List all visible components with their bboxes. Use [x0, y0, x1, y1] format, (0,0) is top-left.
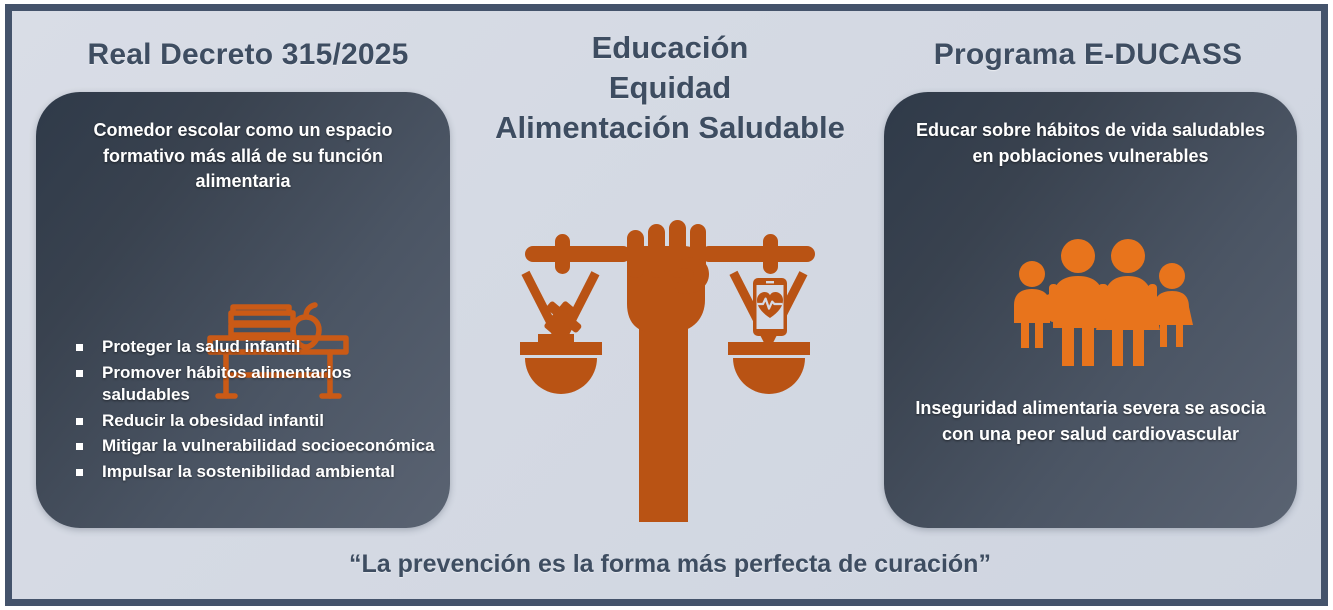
- right-card-note: Inseguridad alimentaria severa se asocia…: [906, 396, 1275, 447]
- bullet-square-icon: [76, 418, 83, 425]
- bullet-square-icon: [76, 370, 83, 377]
- list-item: Mitigar la vulnerabilidad socioeconómica: [70, 435, 436, 458]
- left-bullet-list: Proteger la salud infantil Promover hábi…: [70, 336, 436, 487]
- page-title-line-3: Alimentación Saludable: [455, 108, 885, 148]
- list-item: Proteger la salud infantil: [70, 336, 436, 359]
- bullet-text: Reducir la obesidad infantil: [102, 411, 324, 430]
- bullet-square-icon: [76, 469, 83, 476]
- list-item: Promover hábitos alimentarios saludables: [70, 362, 436, 407]
- left-card-headline: Comedor escolar como un espacio formativ…: [62, 118, 424, 195]
- slide-canvas: Real Decreto 315/2025 Comedor escolar co…: [0, 0, 1333, 610]
- left-card: Comedor escolar como un espacio formativ…: [36, 92, 450, 528]
- balance-scale-fist-icon: [505, 218, 835, 530]
- bullet-text: Impulsar la sostenibilidad ambiental: [102, 462, 395, 481]
- bullet-text: Promover hábitos alimentarios saludables: [102, 363, 351, 405]
- right-card-headline: Educar sobre hábitos de vida saludables …: [910, 118, 1271, 169]
- page-title-line-1: Educación: [455, 28, 885, 68]
- bullet-text: Proteger la salud infantil: [102, 337, 300, 356]
- infographic-slide: Real Decreto 315/2025 Comedor escolar co…: [0, 0, 1333, 610]
- page-title: Educación Equidad Alimentación Saludable: [455, 28, 885, 148]
- bullet-square-icon: [76, 443, 83, 450]
- list-item: Impulsar la sostenibilidad ambiental: [70, 461, 436, 484]
- footer-quote: “La prevención es la forma más perfecta …: [120, 550, 1220, 579]
- family-group-icon: [1000, 236, 1196, 366]
- bullet-text: Mitigar la vulnerabilidad socioeconómica: [102, 436, 435, 455]
- left-column-heading: Real Decreto 315/2025: [28, 38, 468, 72]
- page-title-line-2: Equidad: [455, 68, 885, 108]
- right-column-heading: Programa E-DUCASS: [868, 38, 1308, 72]
- list-item: Reducir la obesidad infantil: [70, 410, 436, 433]
- bullet-square-icon: [76, 344, 83, 351]
